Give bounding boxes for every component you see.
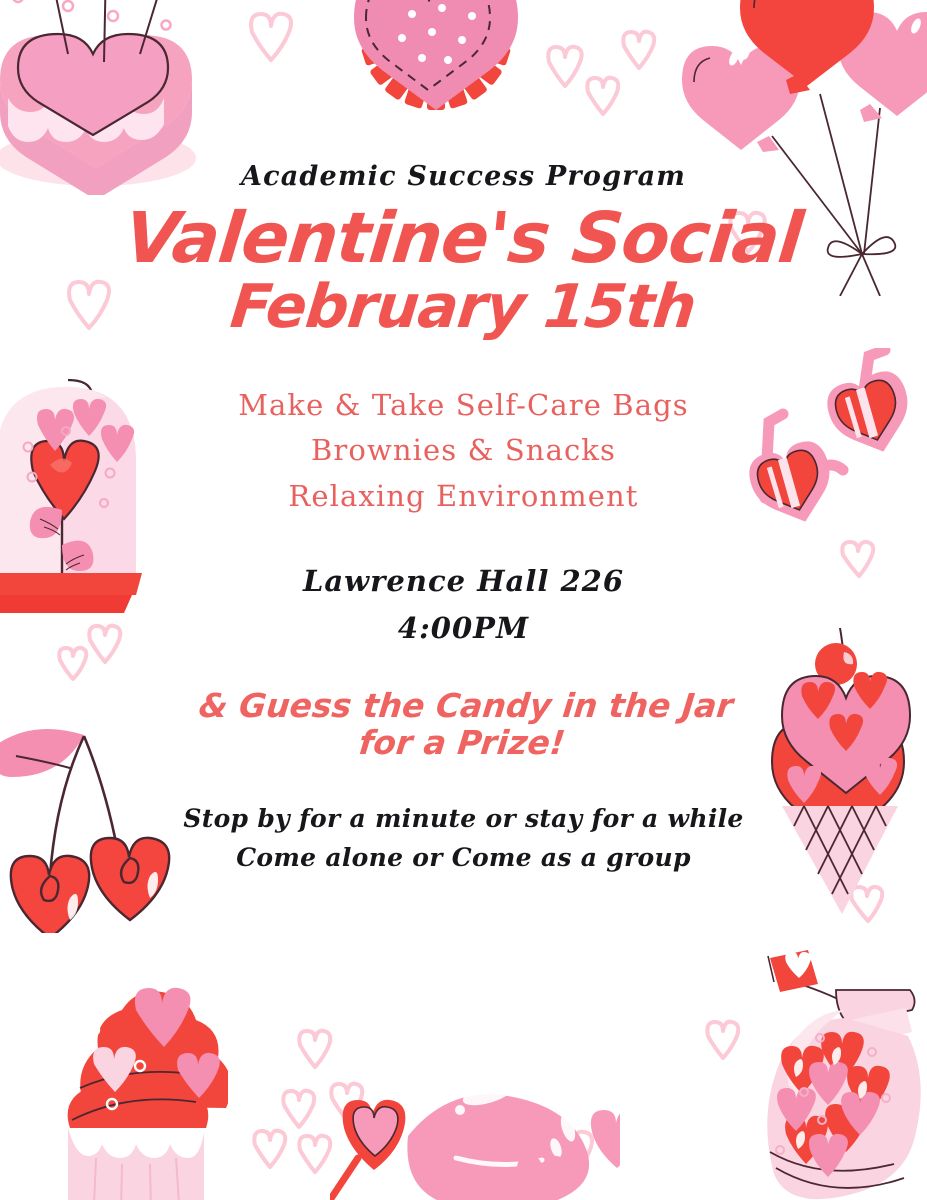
closing-line: Come alone or Come as a group [183, 839, 743, 878]
closing-message: Stop by for a minute or stay for a while… [183, 800, 743, 878]
flyer-text-content: Academic Success Program Valentine's Soc… [0, 0, 927, 1200]
closing-line: Stop by for a minute or stay for a while [183, 800, 743, 839]
activities-list: Make & Take Self-Care Bags Brownies & Sn… [238, 383, 688, 520]
activity-item: Brownies & Snacks [238, 428, 688, 474]
prize-line: & Guess the Candy in the Jar [197, 688, 735, 725]
event-time: 4:00PM [303, 605, 624, 652]
prize-line: for a Prize! [193, 725, 731, 762]
valentines-social-flyer: Academic Success Program Valentine's Soc… [0, 0, 927, 1200]
activity-item: Make & Take Self-Care Bags [238, 383, 688, 429]
venue-block: Lawrence Hall 226 4:00PM [303, 558, 624, 652]
page-title: Valentine's Social [122, 204, 806, 273]
event-location: Lawrence Hall 226 [303, 558, 624, 605]
organization-name: Academic Success Program [241, 163, 686, 190]
event-date: February 15th [228, 277, 699, 337]
prize-announcement: & Guess the Candy in the Jar for a Prize… [193, 688, 735, 762]
activity-item: Relaxing Environment [238, 474, 688, 520]
